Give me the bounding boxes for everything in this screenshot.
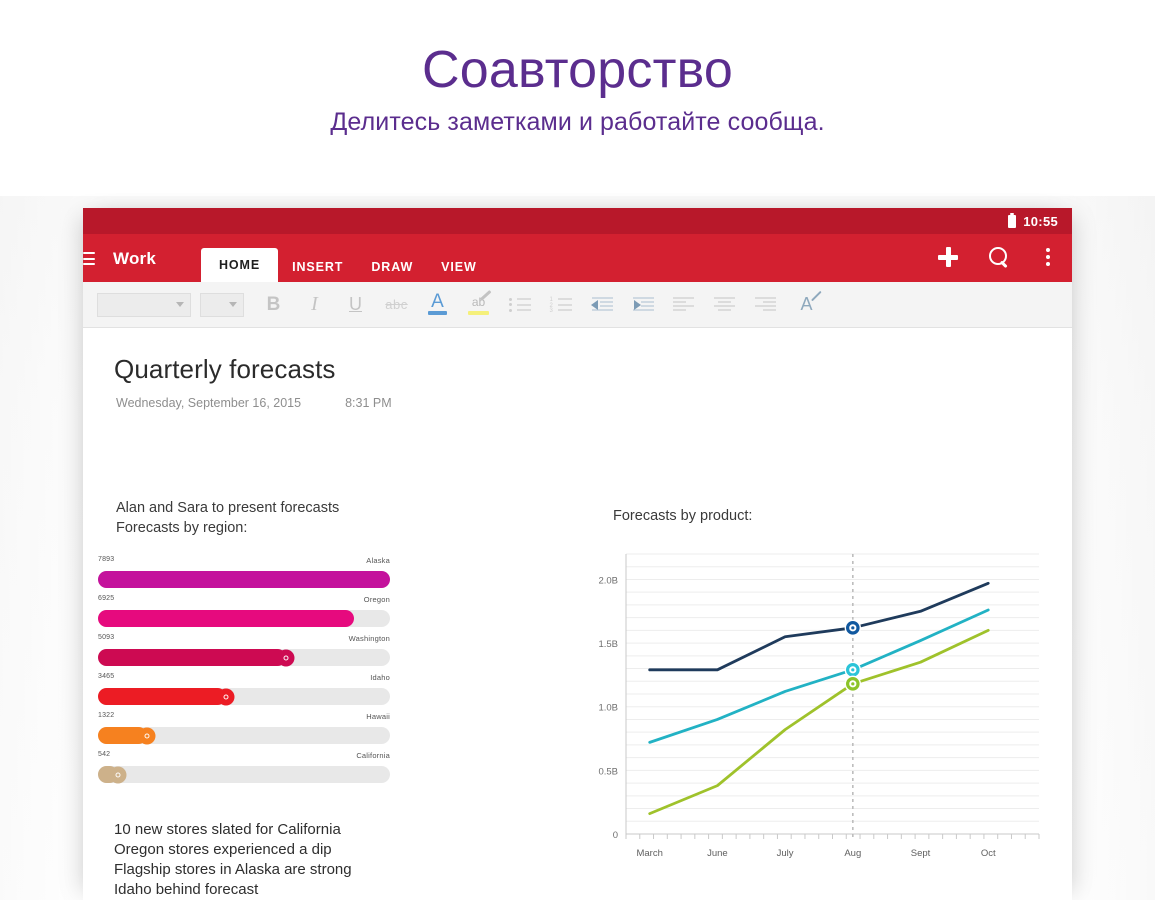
bar-track bbox=[98, 727, 390, 744]
series-line-3 bbox=[650, 630, 989, 813]
line-chart: Forecasts by product: 00.5B1.0B1.5B2.0BM… bbox=[582, 508, 1047, 888]
font-name-select[interactable] bbox=[97, 293, 191, 317]
bar-labels: 6925Oregon bbox=[98, 595, 390, 608]
note-page[interactable]: Quarterly forecasts Wednesday, September… bbox=[83, 328, 1072, 900]
note-line: 10 new stores slated for California bbox=[114, 820, 352, 840]
bar-row: 6925Oregon bbox=[98, 595, 390, 634]
bar-fill bbox=[98, 649, 286, 666]
bar-value-label: 1322 bbox=[98, 712, 114, 719]
align-left-icon bbox=[673, 297, 695, 312]
series-marker-1[interactable] bbox=[845, 620, 860, 635]
x-tick-label: Aug bbox=[844, 848, 861, 859]
bar-category-label: Washington bbox=[349, 634, 390, 643]
note-time: 8:31 PM bbox=[345, 396, 392, 410]
bar-handle-dot bbox=[116, 772, 121, 777]
clear-formatting-button[interactable]: A bbox=[786, 288, 827, 322]
notebook-title[interactable]: Work bbox=[113, 249, 156, 269]
x-tick-label: July bbox=[777, 848, 794, 859]
bar-fill bbox=[98, 688, 226, 705]
status-clock: 10:55 bbox=[1023, 214, 1058, 229]
y-tick-label: 0 bbox=[613, 830, 618, 841]
bar-chart: 7893Alaska6925Oregon5093Washington3465Id… bbox=[98, 556, 390, 790]
bar-row: 7893Alaska bbox=[98, 556, 390, 595]
y-tick-label: 0.5B bbox=[598, 766, 618, 777]
tab-view[interactable]: VIEW bbox=[427, 252, 491, 282]
series-marker-2[interactable] bbox=[845, 662, 860, 677]
promo-header: Соавторство Делитесь заметками и работай… bbox=[0, 0, 1155, 196]
bar-category-label: Hawaii bbox=[366, 712, 390, 721]
bar-value-label: 5093 bbox=[98, 634, 114, 641]
bar-labels: 5093Washington bbox=[98, 634, 390, 647]
numbered-list-icon: 123 bbox=[550, 297, 572, 312]
bar-handle[interactable] bbox=[218, 688, 235, 705]
bar-fill bbox=[98, 610, 354, 627]
note-line: Alan and Sara to present forecasts bbox=[116, 498, 339, 518]
bar-track bbox=[98, 571, 390, 588]
bar-handle[interactable] bbox=[278, 649, 295, 666]
marker-outer bbox=[845, 676, 860, 691]
tab-insert[interactable]: INSERT bbox=[278, 252, 357, 282]
numbered-list-button[interactable]: 123 bbox=[540, 288, 581, 322]
formatting-toolbar: B I U abc A ab 123 bbox=[83, 282, 1072, 328]
bar-track bbox=[98, 688, 390, 705]
note-body-top[interactable]: Alan and Sara to present forecasts Forec… bbox=[116, 498, 339, 538]
note-line: Flagship stores in Alaska are strong bbox=[114, 860, 352, 880]
bar-handle-dot bbox=[144, 733, 149, 738]
y-tick-label: 1.0B bbox=[598, 703, 618, 714]
promo-title: Соавторство bbox=[422, 42, 733, 98]
bar-labels: 1322Hawaii bbox=[98, 712, 390, 725]
bar-category-label: Oregon bbox=[364, 595, 390, 604]
highlight-icon[interactable]: ab bbox=[458, 288, 499, 322]
bar-labels: 542California bbox=[98, 751, 390, 764]
bar-value-label: 6925 bbox=[98, 595, 114, 602]
plus-icon[interactable] bbox=[936, 245, 960, 269]
bar-value-label: 3465 bbox=[98, 673, 114, 680]
overflow-menu-icon[interactable] bbox=[1036, 245, 1060, 269]
tab-draw[interactable]: DRAW bbox=[357, 252, 427, 282]
series-marker-3[interactable] bbox=[845, 676, 860, 691]
ribbon-tabs: HOME INSERT DRAW VIEW bbox=[201, 248, 491, 282]
y-tick-label: 1.5B bbox=[598, 639, 618, 650]
app-bar-actions bbox=[936, 245, 1060, 269]
note-meta: Wednesday, September 16, 2015 8:31 PM bbox=[116, 396, 392, 410]
search-icon[interactable] bbox=[986, 245, 1010, 269]
x-tick-label: March bbox=[636, 848, 662, 859]
bar-category-label: Idaho bbox=[370, 673, 390, 682]
marker-outer bbox=[845, 662, 860, 677]
bar-handle-dot bbox=[224, 694, 229, 699]
decrease-indent-icon bbox=[591, 297, 613, 312]
note-body-bottom[interactable]: 10 new stores slated for California Oreg… bbox=[114, 820, 352, 900]
bar-value-label: 542 bbox=[98, 751, 110, 758]
bar-labels: 3465Idaho bbox=[98, 673, 390, 686]
bullet-list-button[interactable] bbox=[499, 288, 540, 322]
italic-button[interactable]: I bbox=[294, 288, 335, 322]
increase-indent-button[interactable] bbox=[622, 288, 663, 322]
line-chart-title: Forecasts by product: bbox=[613, 508, 752, 524]
chevron-down-icon bbox=[229, 302, 237, 307]
bar-track bbox=[98, 766, 390, 783]
font-color-icon[interactable]: A bbox=[417, 288, 458, 322]
bar-category-label: Alaska bbox=[366, 556, 390, 565]
marker-outer bbox=[845, 620, 860, 635]
align-center-button[interactable] bbox=[704, 288, 745, 322]
note-date: Wednesday, September 16, 2015 bbox=[116, 396, 301, 410]
series-line-2 bbox=[650, 610, 989, 742]
x-tick-label: Sept bbox=[911, 848, 931, 859]
y-tick-label: 2.0B bbox=[598, 575, 618, 586]
promo-subtitle: Делитесь заметками и работайте сообща. bbox=[330, 108, 824, 137]
note-title[interactable]: Quarterly forecasts bbox=[114, 354, 336, 385]
increase-indent-icon bbox=[632, 297, 654, 312]
battery-icon bbox=[1008, 215, 1016, 228]
bar-track bbox=[98, 649, 390, 666]
bullet-list-icon bbox=[509, 297, 531, 312]
bar-category-label: California bbox=[356, 751, 390, 760]
bar-row: 1322Hawaii bbox=[98, 712, 390, 751]
bar-fill bbox=[98, 571, 390, 588]
font-size-select[interactable] bbox=[200, 293, 244, 317]
bar-handle[interactable] bbox=[138, 727, 155, 744]
strikethrough-button[interactable]: abc bbox=[376, 288, 417, 322]
bar-track bbox=[98, 610, 390, 627]
align-right-icon bbox=[755, 297, 777, 312]
bar-row: 542California bbox=[98, 751, 390, 790]
underline-button[interactable]: U bbox=[335, 288, 376, 322]
bar-value-label: 7893 bbox=[98, 556, 114, 563]
series-line-1 bbox=[650, 583, 989, 670]
decrease-indent-button[interactable] bbox=[581, 288, 622, 322]
status-bar: 10:55 bbox=[83, 208, 1072, 234]
app-bar: Work HOME INSERT DRAW VIEW bbox=[83, 234, 1072, 282]
align-right-button[interactable] bbox=[745, 288, 786, 322]
pen-stroke bbox=[811, 290, 822, 301]
x-tick-label: Oct bbox=[981, 848, 996, 859]
hamburger-icon[interactable] bbox=[83, 252, 99, 265]
line-chart-svg: 00.5B1.0B1.5B2.0BMarchJuneJulyAugSeptOct bbox=[582, 546, 1047, 876]
tab-home[interactable]: HOME bbox=[201, 248, 278, 282]
x-tick-label: June bbox=[707, 848, 728, 859]
bar-row: 5093Washington bbox=[98, 634, 390, 673]
bar-handle-dot bbox=[284, 655, 289, 660]
bar-handle[interactable] bbox=[110, 766, 127, 783]
bar-labels: 7893Alaska bbox=[98, 556, 390, 569]
note-line: Idaho behind forecast bbox=[114, 880, 352, 900]
note-line: Oregon stores experienced a dip bbox=[114, 840, 352, 860]
device-screen: 10:55 Work HOME INSERT DRAW VIEW bbox=[83, 208, 1072, 900]
chevron-down-icon bbox=[176, 302, 184, 307]
align-center-icon bbox=[714, 297, 736, 312]
align-left-button[interactable] bbox=[663, 288, 704, 322]
note-line: Forecasts by region: bbox=[116, 518, 339, 538]
bar-row: 3465Idaho bbox=[98, 673, 390, 712]
bold-button[interactable]: B bbox=[253, 288, 294, 322]
